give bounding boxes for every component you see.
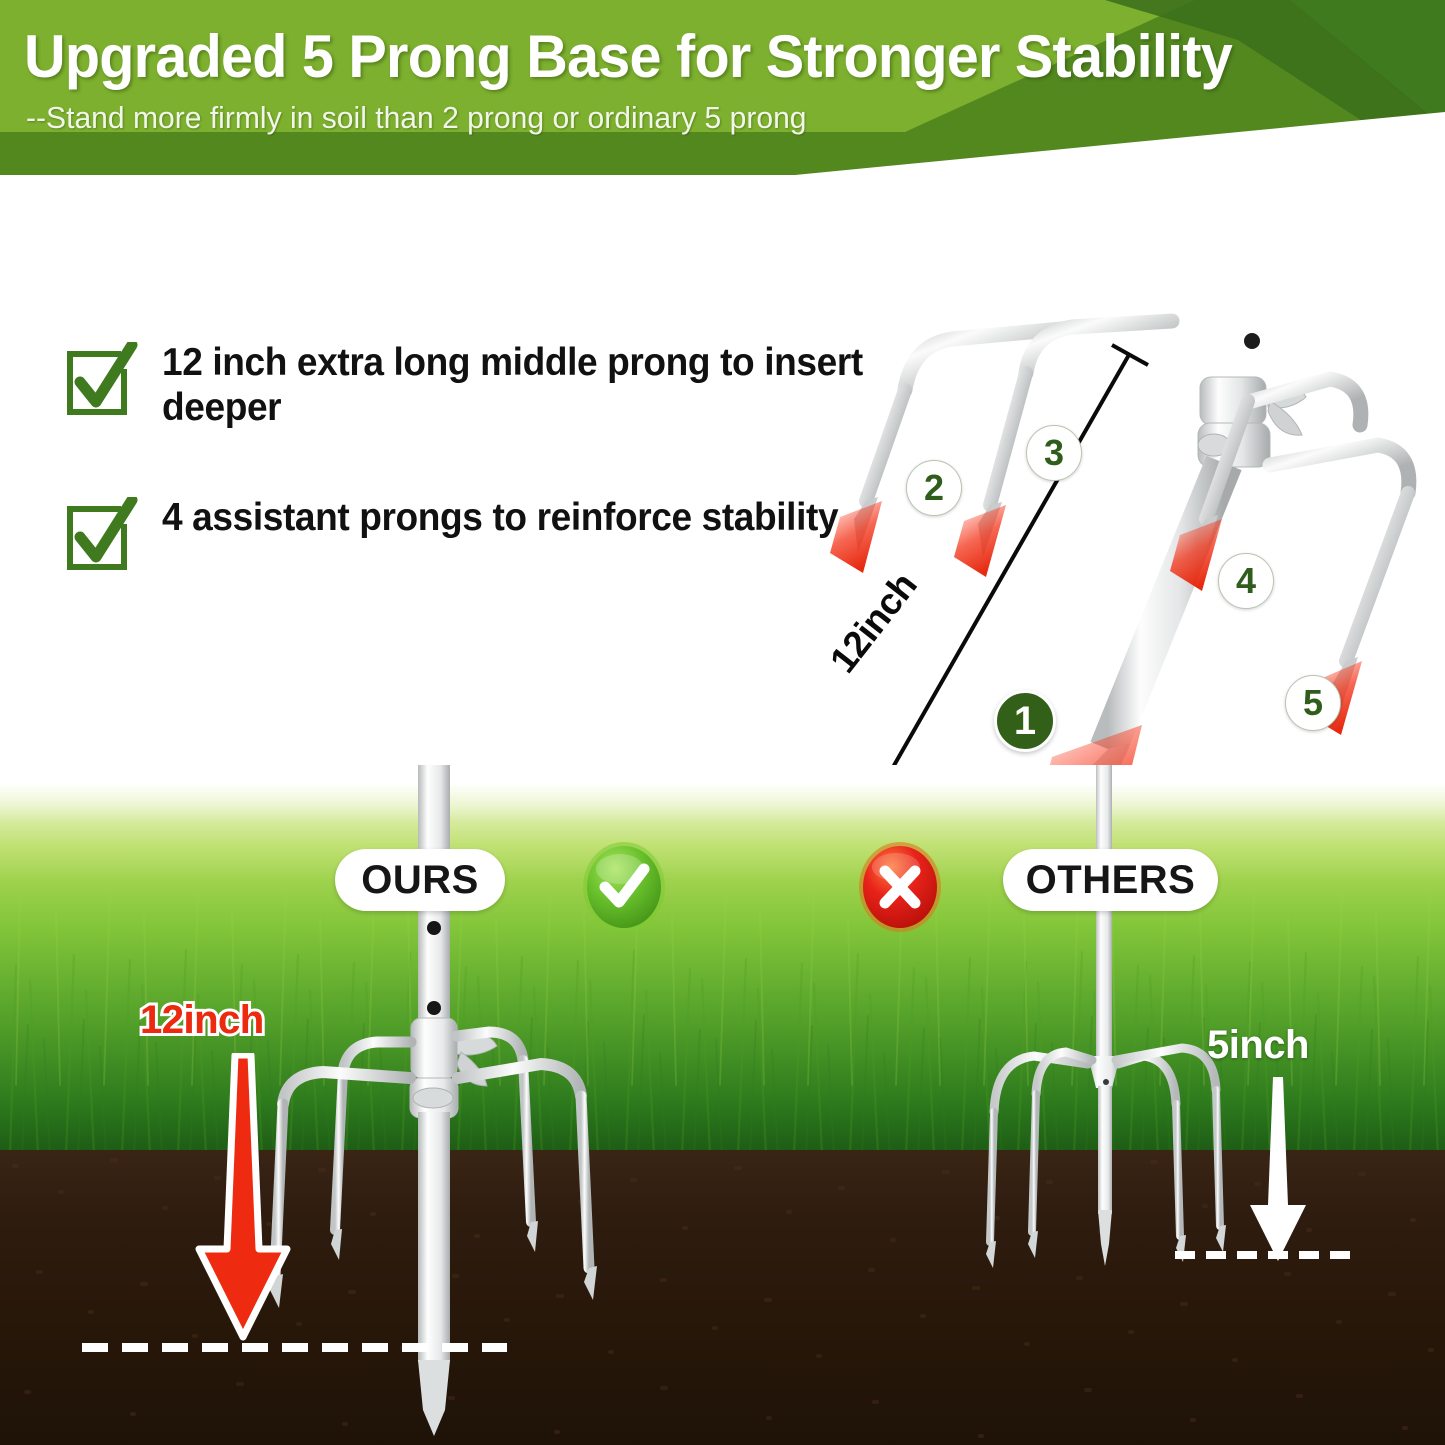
feature-bullet: 12 inch extra long middle prong to inser… [62,340,902,430]
infographic-canvas: Upgraded 5 Prong Base for Stronger Stabi… [0,0,1445,1445]
callout-badge-5: 5 [1285,675,1341,731]
depth-arrow-ours-icon [183,1053,303,1353]
red-cross-circle-icon [856,839,944,935]
label-pill-ours: OURS [335,849,505,911]
label-pill-others: OTHERS [1003,849,1218,911]
feature-panel: 12 inch extra long middle prong to inser… [0,175,1445,765]
callout-badge-3: 3 [1026,425,1082,481]
check-box-icon [62,497,140,575]
depth-label-others: 5inch [1207,1023,1309,1068]
callout-badge-1: 1 [994,690,1056,752]
check-box-icon [62,342,140,420]
depth-arrow-others-icon [1238,1075,1318,1275]
green-check-circle-icon [580,839,668,935]
feature-bullet-text: 4 assistant prongs to reinforce stabilit… [162,495,838,540]
page-subtitle: --Stand more firmly in soil than 2 prong… [26,100,807,136]
feature-bullet: 4 assistant prongs to reinforce stabilit… [62,495,874,575]
feature-bullet-text: 12 inch extra long middle prong to inser… [162,340,865,430]
header-banner: Upgraded 5 Prong Base for Stronger Stabi… [0,0,1445,175]
callout-badge-2: 2 [906,460,962,516]
depth-reference-line-others [1175,1251,1350,1259]
depth-reference-line-ours [82,1343,507,1352]
depth-label-ours-fill: 12inch [140,998,264,1043]
callout-badge-4: 4 [1218,553,1274,609]
page-title: Upgraded 5 Prong Base for Stronger Stabi… [24,22,1232,91]
comparison-scene: OURS OTHERS [0,765,1445,1445]
